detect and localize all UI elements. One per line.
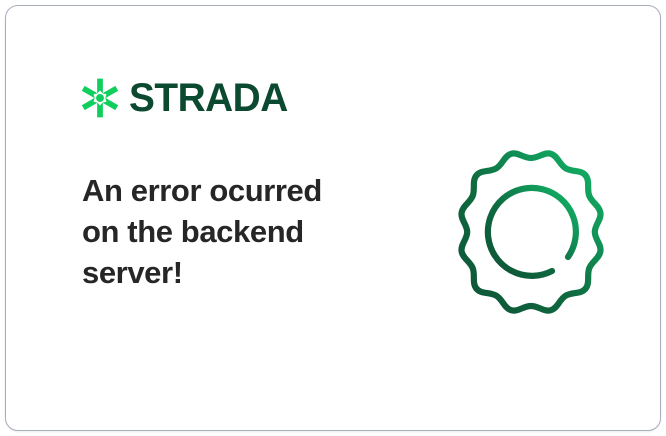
strada-asterisk-icon: [78, 76, 122, 120]
gear-icon: [446, 144, 616, 314]
error-message-line-3: server!: [82, 252, 382, 293]
brand-wordmark: STRADA: [129, 78, 288, 118]
error-message-line-2: on the backend: [82, 211, 382, 252]
error-message-line-1: An error ocurred: [82, 170, 382, 211]
error-message: An error ocurred on the backend server!: [82, 170, 382, 293]
brand-logo: STRADA: [78, 72, 293, 124]
error-screen: STRADA An error ocurred on the backend s…: [0, 0, 666, 436]
error-card: STRADA An error ocurred on the backend s…: [5, 5, 661, 431]
gear-illustration: [446, 144, 616, 314]
